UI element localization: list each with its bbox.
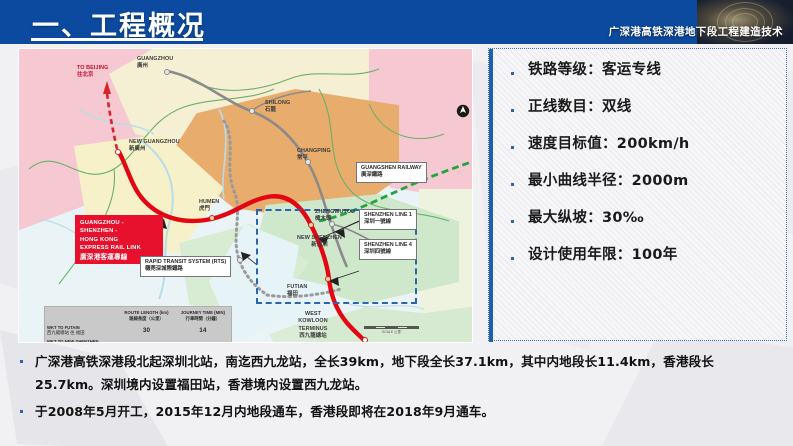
spec-label: 铁路等级：客运专线 (528, 63, 661, 79)
table-header-blank (45, 307, 118, 323)
list-item: 最大纵坡：30‰ (511, 211, 779, 227)
station-marker-shilong (249, 108, 255, 114)
map-scale-bar: SCALE 公里 (364, 326, 419, 334)
journey-time-table: ROUTE LENGTH (km) 路線長度（公里） JOURNEY TIME … (44, 306, 232, 343)
route-map: TO BEIJING 往北京 GUANGZHOU 廣州 NEW GUANGZHO… (18, 48, 473, 343)
table-row: WKT TO FUTAIN 西九龍總站 往 福田 30 14 (45, 323, 231, 338)
map-label-new-guangzhou: NEW GUANGZHOU 新廣州 (129, 139, 180, 154)
station-marker-new-shenzhen (308, 222, 314, 228)
spec-label: 设计使用年限：100年 (528, 248, 678, 264)
bullet-dot-icon (20, 410, 23, 413)
bullet-dot-icon (511, 72, 514, 75)
table-cell-route: WKT TO NEW SHENZHEN 西九龍總站 往 新深圳 (45, 338, 118, 343)
spec-label: 最大纵坡：30‰ (528, 211, 644, 227)
table-cell-time: 25 (175, 338, 231, 343)
spec-label: 速度目标值：200km/h (528, 137, 690, 153)
station-marker-new-guangzhou (115, 149, 121, 155)
map-label-zhengwutou: ZHENGWUTOU 樟木頭 (315, 209, 355, 224)
station-marker-wkt (362, 337, 368, 343)
spec-label: 正线数目：双线 (528, 100, 632, 116)
map-label-humen: HUMEN 虎門 (199, 199, 219, 214)
bullet-dot-icon (20, 360, 23, 363)
slide-header: 一、工程概况 广深港高铁深港地下段工程建造技术 (0, 0, 793, 44)
description-section: 广深港高铁深港段北起深圳北站，南迄西九龙站，全长39km，地下段全长37.1km… (0, 348, 793, 446)
callout-guangshen-railway: GUANGSHEN RAILWAY 廣深鐵路 (356, 162, 427, 183)
station-marker-futian (325, 276, 331, 282)
table-cell-time: 14 (175, 323, 231, 338)
bullet-dot-icon (511, 146, 514, 149)
map-label-futian: FUTIAN 福田 (287, 284, 307, 299)
callout-rapid-transit-system: RAPID TRANSIT SYSTEM (RTS) 穗莞深城際鐵路 (140, 256, 231, 277)
bullet-dot-icon (511, 220, 514, 223)
slide-canvas: 一、工程概况 广深港高铁深港地下段工程建造技术 (0, 0, 793, 446)
bullet-dot-icon (511, 257, 514, 260)
list-item: 于2008年5月开工，2015年12月内地段通车，香港段即将在2018年9月通车… (0, 400, 793, 423)
spec-label: 最小曲线半径：2000m (528, 174, 689, 190)
panel-accent-bar (489, 49, 493, 342)
bullet-dot-icon (511, 183, 514, 186)
table-header-route-length: ROUTE LENGTH (km) 路線長度（公里） (118, 307, 174, 323)
bullet-dot-icon (511, 109, 514, 112)
description-text: 广深港高铁深港段北起深圳北站，南迄西九龙站，全长39km，地下段全长37.1km… (35, 350, 779, 397)
table-cell-length: 39 (118, 338, 174, 343)
spec-list: 铁路等级：客运专线 正线数目：双线 速度目标值：200km/h 最小曲线半径：2… (511, 63, 779, 285)
title-underline (31, 38, 203, 41)
description-text: 于2008年5月开工，2015年12月内地段通车，香港段即将在2018年9月通车… (35, 400, 494, 423)
map-label-shilong: SHILONG 石龍 (265, 100, 290, 115)
callout-shenzhen-line-4: SHENZHEN LINE 4 深圳四號線 (359, 239, 417, 260)
callout-shenzhen-line-1: SHENZHEN LINE 1 深圳一號線 (359, 209, 417, 230)
map-label-new-shenzhen: NEW SHENZHEN 新深圳 (297, 235, 342, 250)
list-item: 铁路等级：客运专线 (511, 63, 779, 79)
table-header-journey-time: JOURNEY TIME (MIN) 行車時間（分鐘） (175, 307, 231, 323)
station-marker-humen (209, 215, 215, 221)
header-subtitle: 广深港高铁深港地下段工程建造技术 (609, 24, 783, 39)
list-item: 速度目标值：200km/h (511, 137, 779, 153)
map-label-to-beijing: TO BEIJING 往北京 (77, 65, 108, 80)
map-label-west-kowloon-terminus: WEST KOWLOON TERMINUS 西九龍總站 (295, 311, 331, 340)
list-item: 广深港高铁深港段北起深圳北站，南迄西九龙站，全长39km，地下段全长37.1km… (0, 350, 793, 397)
list-item: 设计使用年限：100年 (511, 248, 779, 264)
station-marker-rts (237, 257, 243, 263)
north-arrow-icon (456, 104, 470, 118)
list-item: 最小曲线半径：2000m (511, 174, 779, 190)
map-label-guangzhou: GUANGZHOU 廣州 (137, 56, 173, 71)
spec-panel: 铁路等级：客运专线 正线数目：双线 速度目标值：200km/h 最小曲线半径：2… (488, 48, 787, 341)
table-cell-route: WKT TO FUTAIN 西九龍總站 往 福田 (45, 323, 118, 338)
list-item: 正线数目：双线 (511, 100, 779, 116)
table-row: WKT TO NEW SHENZHEN 西九龍總站 往 新深圳 39 25 (45, 338, 231, 343)
table-cell-length: 30 (118, 323, 174, 338)
map-label-changping: CHANGPING 常平 (297, 148, 331, 163)
